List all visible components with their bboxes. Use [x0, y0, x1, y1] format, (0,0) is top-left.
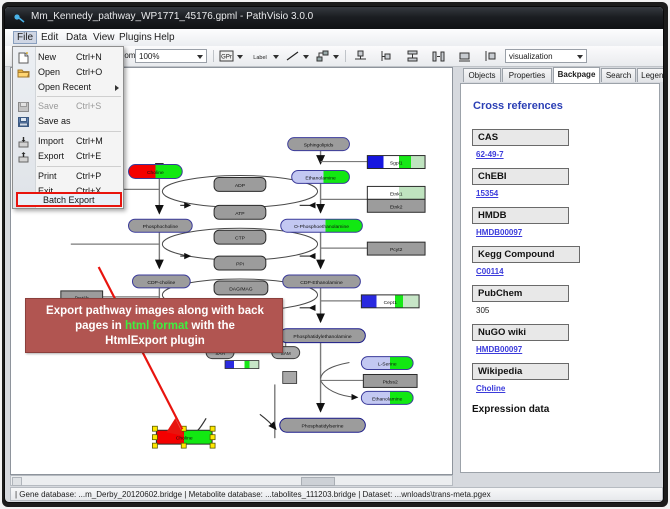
file-menu-item-import[interactable]: Import Ctrl+M: [13, 134, 125, 149]
node-sphingolipids: Sphingolipids: [288, 138, 350, 151]
gene-etnk1: Etnk1: [367, 186, 425, 199]
xref-header-hmdb: HMDB: [472, 207, 569, 224]
xref-value-pubchem: 305: [476, 306, 489, 315]
menu-help[interactable]: Help: [150, 31, 179, 44]
svg-text:CDP-choline: CDP-choline: [147, 280, 175, 286]
xref-value-hmdb[interactable]: HMDB00097: [476, 228, 522, 237]
zoom-combo[interactable]: 100%: [135, 49, 207, 63]
xref-value-nugo[interactable]: HMDB00097: [476, 345, 522, 354]
svg-text:GPr: GPr: [221, 55, 232, 61]
svg-text:Choline: Choline: [147, 170, 164, 176]
file-menu-item-open[interactable]: Open Ctrl+O: [13, 65, 125, 80]
svg-text:Sphingolipids: Sphingolipids: [304, 143, 334, 149]
canvas-horizontal-scrollbar[interactable]: [10, 475, 453, 486]
svg-text:Cept1: Cept1: [384, 300, 397, 306]
gene-sgpl1: Sgpl1: [367, 156, 425, 169]
menu-edit[interactable]: Edit: [37, 31, 62, 44]
gene-cept1: Cept1: [361, 295, 419, 308]
screenshot-root: Mm_Kennedy_pathway_WP1771_45176.gpml - P…: [0, 0, 670, 509]
file-menu-label-batch-export: Batch Export: [43, 195, 95, 205]
node-ethanolamine-top: Ethanolamine: [292, 170, 350, 183]
tab-backpage[interactable]: Backpage: [553, 67, 600, 83]
svg-text:L-Serine: L-Serine: [378, 362, 397, 368]
node-phosphatidylethanolamine: Phosphatidylethanolamine: [280, 329, 366, 343]
svg-text:Etnk1: Etnk1: [390, 191, 403, 197]
menu-file[interactable]: File: [13, 31, 37, 44]
node-choline-selected: Choline: [152, 426, 215, 448]
svg-text:CDP-Ethanolamine: CDP-Ethanolamine: [300, 280, 343, 286]
label-tool-button[interactable]: Label: [249, 49, 271, 63]
file-menu-accel-open: Ctrl+O: [76, 67, 102, 77]
file-menu-separator-3: [37, 166, 121, 167]
file-menu-separator-2: [37, 131, 121, 132]
file-menu-label-import: Import: [38, 136, 64, 146]
label-dropdown-icon[interactable]: [273, 55, 279, 59]
file-menu-item-save-as[interactable]: Save as: [13, 114, 125, 129]
gene-pcyt2: Pcyt2: [367, 242, 425, 255]
statusbar: | Gene database: ...m_Derby_20120602.bri…: [10, 487, 663, 501]
pathway-nodes: Sphingolipids Choline Ethanolamine ADP: [113, 138, 414, 448]
callout-line-1: Export pathway images along with back: [32, 304, 278, 319]
svg-text:O-Phosphoethanolamine: O-Phosphoethanolamine: [294, 224, 349, 230]
xref-header-nugo: NuGO wiki: [472, 324, 569, 341]
toolbar-separator: [213, 50, 214, 62]
svg-text:ADP: ADP: [235, 183, 246, 189]
scroll-thumb[interactable]: [301, 477, 335, 486]
callout-text: Export pathway images along with back pa…: [32, 304, 278, 349]
align-top-tool-button[interactable]: [353, 49, 368, 63]
cross-references-heading: Cross references: [473, 100, 563, 112]
submenu-arrow-icon: [115, 85, 119, 91]
file-menu-popup: New Ctrl+N Open Ctrl+O Open Recent: [12, 46, 124, 209]
line-dropdown-icon[interactable]: [303, 55, 309, 59]
new-file-icon: [17, 52, 30, 64]
file-menu-accel-import: Ctrl+M: [76, 136, 103, 146]
tab-properties[interactable]: Properties: [502, 68, 552, 82]
file-menu-accel-new: Ctrl+N: [76, 52, 102, 62]
file-menu-item-new[interactable]: New Ctrl+N: [13, 50, 125, 65]
svg-text:Etnk2: Etnk2: [390, 204, 403, 210]
gene-chip-unlabeled: [225, 361, 259, 369]
tab-legend[interactable]: Legend: [637, 68, 664, 82]
app-icon: [13, 12, 25, 24]
tab-search[interactable]: Search: [601, 68, 636, 82]
node-cdp-ethanolamine: CDP-Ethanolamine: [283, 275, 361, 288]
file-menu-label-print: Print: [38, 171, 57, 181]
svg-text:Pcyt2: Pcyt2: [390, 247, 403, 253]
node-ppi: PPi: [214, 256, 266, 270]
svg-text:DAG/MAG: DAG/MAG: [229, 286, 253, 292]
gene-ptdss2: Ptdss2: [363, 374, 417, 387]
node-o-phosphoethanolamine: O-Phosphoethanolamine: [281, 219, 363, 232]
node-phosphocholine: Phosphocholine: [129, 219, 193, 232]
xref-header-cas: CAS: [472, 129, 569, 146]
chevron-down-icon-2: [577, 55, 583, 59]
menubar: File Edit Data View Plugins Help: [5, 29, 663, 47]
gene-product-tool-button[interactable]: GPr: [219, 49, 234, 63]
file-menu-label-save: Save: [38, 101, 59, 111]
svg-text:Choline: Choline: [176, 436, 193, 442]
node-ethanolamine-bottom: Ethanolamine: [361, 391, 413, 404]
gene-product-dropdown-icon[interactable]: [237, 55, 243, 59]
xref-header-wikipedia: Wikipedia: [472, 363, 569, 380]
export-icon: [17, 151, 30, 163]
right-sidebar: Objects Properties Backpage Search Legen…: [457, 67, 663, 475]
interaction-dropdown-icon[interactable]: [333, 55, 339, 59]
file-menu-item-batch-export[interactable]: Batch Export: [16, 192, 122, 207]
callout-line-2-pre: pages in: [75, 320, 125, 332]
line-tool-button[interactable]: [285, 49, 300, 63]
xref-header-pubchem: PubChem: [472, 285, 569, 302]
toolbar-separator-2: [345, 50, 346, 62]
sidebar-tabstrip: Objects Properties Backpage Search Legen…: [457, 67, 663, 83]
window-title: Mm_Kennedy_pathway_WP1771_45176.gpml - P…: [31, 11, 313, 22]
menu-data[interactable]: Data: [62, 31, 91, 44]
svg-text:Label: Label: [253, 55, 266, 61]
same-height-tool-button[interactable]: [483, 49, 498, 63]
svg-text:Ptdss2: Ptdss2: [383, 379, 398, 385]
annotation-callout: Export pathway images along with back pa…: [25, 298, 283, 353]
backpage-panel: Cross references CAS 62-49-7 ChEBI 15354…: [460, 83, 660, 473]
node-adp: ADP: [214, 177, 266, 191]
status-text: | Gene database: ...m_Derby_20120602.bri…: [15, 490, 491, 499]
file-menu-item-open-recent[interactable]: Open Recent: [13, 80, 125, 95]
node-phosphatidylserine: Phosphatidylserine: [280, 418, 366, 432]
svg-text:Ethanolamine: Ethanolamine: [372, 396, 403, 402]
svg-text:PPi: PPi: [236, 262, 244, 268]
file-menu-accel-save: Ctrl+S: [76, 101, 101, 111]
pathvisio-window: Mm_Kennedy_pathway_WP1771_45176.gpml - P…: [4, 6, 664, 503]
visualization-combo[interactable]: visualization: [505, 49, 587, 63]
xref-value-cas[interactable]: 62-49-7: [476, 150, 504, 159]
file-menu-item-save[interactable]: Save Ctrl+S: [13, 99, 125, 114]
save-as-icon: [17, 116, 30, 128]
stack-horizontal-tool-button[interactable]: [431, 49, 446, 63]
file-menu-accel-export: Ctrl+E: [76, 151, 101, 161]
callout-line-2-post: with the: [188, 320, 235, 332]
file-menu-item-export[interactable]: Export Ctrl+E: [13, 149, 125, 164]
svg-text:Sgpl1: Sgpl1: [390, 161, 403, 167]
window-titlebar[interactable]: Mm_Kennedy_pathway_WP1771_45176.gpml - P…: [5, 7, 663, 29]
visualization-value: visualization: [509, 52, 553, 61]
file-menu-label-export: Export: [38, 151, 64, 161]
file-menu-label-new: New: [38, 52, 56, 62]
xref-value-chebi[interactable]: 15354: [476, 189, 498, 198]
interaction-tool-button[interactable]: [315, 49, 330, 63]
node-choline-top: Choline: [129, 165, 183, 179]
node-ctp: CTP: [214, 230, 266, 244]
node-atp: ATP: [214, 205, 266, 219]
expression-data-heading: Expression data: [472, 404, 549, 415]
tab-objects[interactable]: Objects: [463, 68, 501, 82]
file-menu-label-open: Open: [38, 67, 60, 77]
file-menu-label-open-recent: Open Recent: [38, 82, 91, 92]
callout-highlight: html format: [125, 320, 188, 332]
node-dag-mag: DAG/MAG: [214, 281, 268, 295]
svg-text:Phosphatidylserine: Phosphatidylserine: [302, 424, 344, 430]
xref-value-wikipedia[interactable]: Choline: [476, 384, 505, 393]
same-width-tool-button[interactable]: [457, 49, 472, 63]
gene-etnk2: Etnk2: [367, 199, 425, 212]
import-icon: [17, 136, 30, 148]
node-l-serine: L-Serine: [361, 357, 413, 370]
xref-value-kegg[interactable]: C00114: [476, 267, 504, 276]
align-left-tool-button[interactable]: [379, 49, 394, 63]
folder-icon: [17, 67, 30, 79]
svg-text:Ethanolamine: Ethanolamine: [305, 175, 336, 181]
svg-text:ATP: ATP: [235, 211, 245, 217]
scroll-left-button[interactable]: [12, 477, 22, 486]
node-chip-gray: [283, 372, 297, 384]
node-cdp-choline: CDP-choline: [132, 275, 190, 288]
file-menu-label-save-as: Save as: [38, 116, 71, 126]
save-icon: [17, 101, 30, 113]
xref-header-kegg: Kegg Compound: [472, 246, 580, 263]
file-menu-separator-1: [37, 96, 121, 97]
callout-line-3: HtmlExport plugin: [32, 334, 278, 349]
callout-line-2: pages in html format with the: [32, 319, 278, 334]
svg-text:CTP: CTP: [235, 236, 246, 242]
svg-text:Phosphatidylethanolamine: Phosphatidylethanolamine: [293, 334, 352, 340]
chevron-down-icon: [197, 55, 203, 59]
zoom-value: 100%: [139, 52, 159, 61]
file-menu-accel-print: Ctrl+P: [76, 171, 101, 181]
stack-vertical-tool-button[interactable]: [405, 49, 420, 63]
xref-header-chebi: ChEBI: [472, 168, 569, 185]
file-menu-item-print[interactable]: Print Ctrl+P: [13, 169, 125, 184]
svg-text:Phosphocholine: Phosphocholine: [143, 224, 179, 230]
